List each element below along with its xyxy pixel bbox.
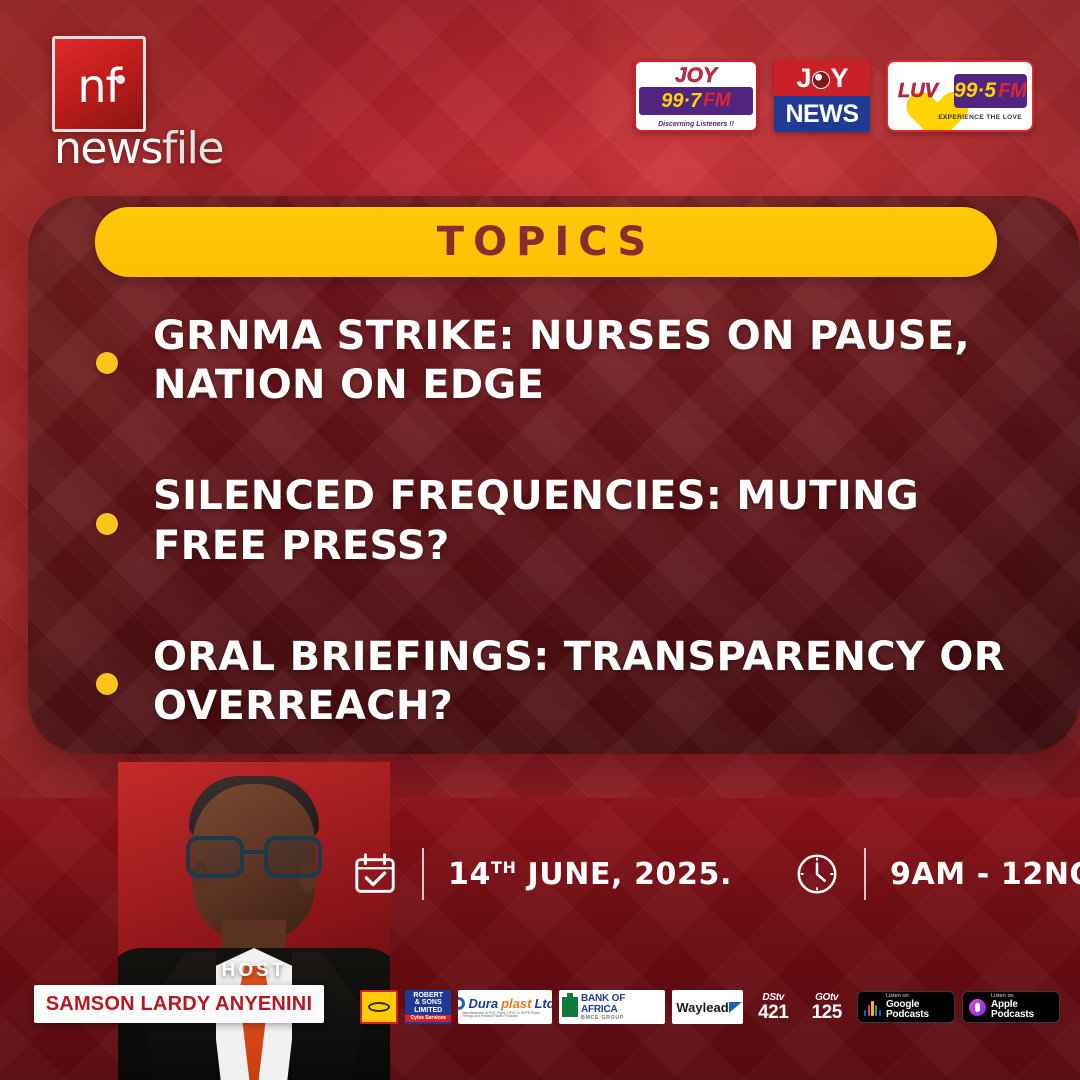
- joy-997-band: 99·7 FM: [639, 87, 753, 115]
- newsfile-promo-graphic: nf newsfile JOY 99·7 FM Discerning Liste…: [0, 0, 1080, 1080]
- topic-item: GRNMA STRIKE: NURSES ON PAUSE, NATION ON…: [96, 312, 1046, 410]
- google-podcasts-icon: [864, 999, 881, 1016]
- luv-995-tagline: EXPERIENCE THE LOVE: [938, 114, 1022, 121]
- nf-logo-letters: nf: [77, 59, 120, 113]
- time-group: 9AM - 12NOON: [794, 848, 1080, 900]
- sponsor-mtn-logo: [360, 990, 398, 1024]
- bank-of-africa-group: BMCE GROUP: [581, 1015, 624, 1021]
- schedule-divider-1: [422, 848, 424, 900]
- robert-line-3: LIMITED: [414, 1007, 442, 1014]
- newsfile-word-file: file: [162, 123, 223, 174]
- joy-news-bottom: NEWS: [774, 96, 870, 132]
- newsfile-logo: nf newsfile: [52, 36, 202, 172]
- robert-line-1: ROBERT: [413, 992, 443, 999]
- waylead-triangle-icon: [729, 1002, 742, 1013]
- duraplast-fine-print: Manufacturers of PVC Pipes, UPVC & HDPE …: [462, 1012, 548, 1019]
- bank-of-africa-leaf-icon: [562, 997, 578, 1017]
- sponsor-waylead-logo: Waylead: [672, 990, 743, 1024]
- globe-icon: [812, 71, 830, 89]
- robert-line-4: Cylss Services: [405, 1015, 451, 1022]
- sponsor-robert-and-sons-logo: ROBERT & SONS LIMITED Cylss Services: [405, 990, 451, 1024]
- apple-podcasts-badge[interactable]: Listen on Apple Podcasts: [962, 991, 1060, 1023]
- sponsor-dstv-channel: DStv 421: [750, 990, 796, 1024]
- luv-995-fm-suffix: FM: [998, 80, 1027, 103]
- host-photo: [118, 762, 390, 1080]
- station-logo-group: JOY 99·7 FM Discerning Listeners !! J Y …: [634, 60, 1034, 132]
- google-podcasts-badge[interactable]: Listen on Google Podcasts: [857, 991, 955, 1023]
- host-name-bar: SAMSON LARDY ANYENINI: [34, 985, 324, 1023]
- joy-news-letter-j: J: [796, 63, 810, 94]
- topic-item: SILENCED FREQUENCIES: MUTING FREE PRESS?: [96, 472, 1046, 570]
- date-ordinal: TH: [491, 858, 517, 877]
- mtn-oval-icon: [368, 1002, 390, 1012]
- gotv-wordmark: GOtv: [815, 993, 838, 1003]
- apple-podcasts-text: Listen on Apple Podcasts: [991, 994, 1053, 1020]
- bank-of-africa-name: BANK OF AFRICA: [581, 993, 662, 1015]
- schedule-divider-2: [864, 848, 866, 900]
- joy-997-fm-logo: JOY 99·7 FM Discerning Listeners !!: [634, 60, 758, 132]
- host-name: SAMSON LARDY ANYENINI: [46, 993, 312, 1016]
- joy-997-word: JOY: [636, 64, 756, 88]
- joy-news-logo: J Y NEWS: [774, 60, 870, 132]
- host-role-label: HOST: [118, 960, 390, 982]
- waylead-wordmark: Waylead: [676, 1000, 728, 1015]
- dstv-channel-number: 421: [758, 1003, 788, 1022]
- bank-of-africa-text: BANK OF AFRICA BMCE GROUP: [581, 993, 662, 1021]
- google-podcasts-text: Listen on Google Podcasts: [886, 994, 948, 1020]
- clock-icon: [794, 851, 840, 897]
- topic-text: SILENCED FREQUENCIES: MUTING FREE PRESS?: [153, 472, 1043, 570]
- bullet-icon: [96, 673, 118, 695]
- luv-995-number: 99·5: [954, 79, 996, 103]
- joy-997-tagline: Discerning Listeners !!: [636, 121, 756, 128]
- topic-item: ORAL BRIEFINGS: TRANSPARENCY OR OVERREAC…: [96, 633, 1046, 731]
- luv-word: LUV: [898, 80, 938, 103]
- sponsor-gotv-channel: GOtv 125: [803, 990, 849, 1024]
- joy-news-top: J Y: [774, 60, 870, 96]
- glasses-icon: [186, 836, 322, 880]
- sponsor-bank-of-africa-logo: BANK OF AFRICA BMCE GROUP: [559, 990, 665, 1024]
- duraplast-wordmark: Dura plast Ltd.: [458, 996, 552, 1011]
- sponsor-logo-strip: ROBERT & SONS LIMITED Cylss Services Dur…: [360, 988, 1060, 1026]
- apple-podcasts-big: Apple Podcasts: [991, 1000, 1053, 1020]
- joy-997-fm-suffix: FM: [703, 90, 730, 112]
- duraplast-part-2: plast: [501, 996, 531, 1011]
- joy-news-letter-y: Y: [831, 63, 848, 94]
- calendar-check-icon: [352, 851, 398, 897]
- newsfile-wordmark: newsfile: [54, 126, 202, 172]
- bullet-icon: [96, 352, 118, 374]
- nf-logo-mark: nf: [52, 36, 146, 132]
- google-podcasts-big: Google Podcasts: [886, 1000, 948, 1020]
- duraplast-part-1: Dura: [468, 996, 498, 1011]
- duraplast-ring-icon: [458, 997, 465, 1010]
- bullet-icon: [96, 513, 118, 535]
- date-rest: JUNE, 2025.: [516, 857, 732, 892]
- topics-header-bar: TOPICS: [95, 207, 997, 277]
- nf-logo-dot: [116, 75, 125, 84]
- topic-list: GRNMA STRIKE: NURSES ON PAUSE, NATION ON…: [96, 312, 1046, 731]
- apple-podcasts-icon: [969, 999, 986, 1016]
- broadcast-time: 9AM - 12NOON: [890, 857, 1080, 892]
- gotv-channel-number: 125: [812, 1003, 842, 1022]
- luv-995-fm-logo: LUV 99·5 FM EXPERIENCE THE LOVE: [886, 60, 1034, 132]
- robert-line-2: & SONS: [415, 999, 442, 1006]
- duraplast-part-3: Ltd.: [534, 996, 552, 1011]
- schedule-row: 14TH JUNE, 2025. 9AM - 12NOON: [352, 848, 1080, 900]
- glasses-bridge: [244, 850, 264, 854]
- dstv-wordmark: DStv: [762, 993, 784, 1003]
- glasses-lens-right: [264, 836, 322, 878]
- luv-band: 99·5 FM: [954, 74, 1027, 108]
- sponsor-duraplast-logo: Dura plast Ltd. Manufacturers of PVC Pip…: [458, 990, 552, 1024]
- topics-header-label: TOPICS: [437, 219, 655, 265]
- date-day: 14: [448, 857, 491, 892]
- topic-text: GRNMA STRIKE: NURSES ON PAUSE, NATION ON…: [153, 312, 1043, 410]
- broadcast-date: 14TH JUNE, 2025.: [448, 857, 732, 892]
- joy-997-number: 99·7: [661, 90, 701, 113]
- date-group: 14TH JUNE, 2025.: [352, 848, 732, 900]
- glasses-lens-left: [186, 836, 244, 878]
- topic-text: ORAL BRIEFINGS: TRANSPARENCY OR OVERREAC…: [153, 633, 1043, 731]
